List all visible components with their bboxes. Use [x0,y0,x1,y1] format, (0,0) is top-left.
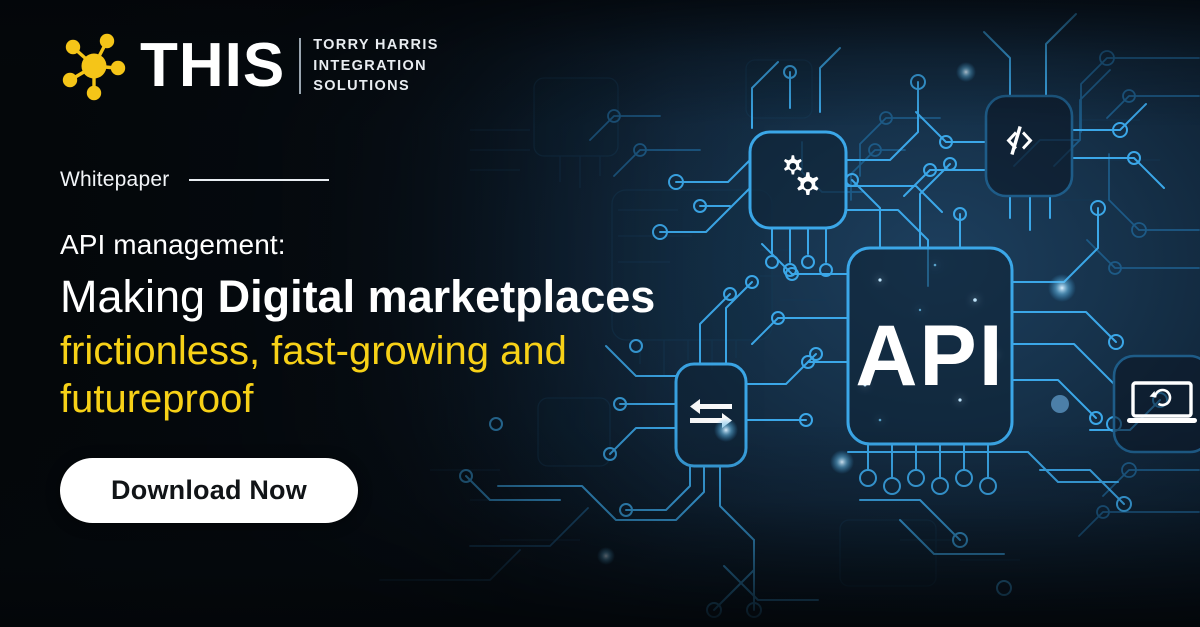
kicker-row: Whitepaper [60,168,329,192]
headline-line-4: futureproof [60,375,700,424]
logo-tagline-line-1: TORRY HARRIS [313,35,439,56]
headline-eyebrow: API management: [60,228,700,262]
headline-line-3: frictionless, fast-growing and [60,327,700,376]
whitepaper-promo-banner: API [0,0,1200,627]
logo-tagline-line-3: SOLUTIONS [313,76,439,97]
network-nodes-icon [58,30,130,102]
logo-divider [299,38,301,94]
banner-content: THIS TORRY HARRIS INTEGRATION SOLUTIONS … [0,0,700,627]
logo-tagline: TORRY HARRIS INTEGRATION SOLUTIONS [313,35,439,97]
headline-line-2-plain: Making [60,271,218,322]
headline-line-2-bold: Digital marketplaces [218,271,656,322]
headline-line-2: Making Digital marketplaces [60,270,700,323]
logo-wordmark: THIS [140,35,285,97]
kicker-rule [189,179,329,181]
headline-block: API management: Making Digital marketpla… [60,228,700,424]
brand-logo[interactable]: THIS TORRY HARRIS INTEGRATION SOLUTIONS [58,30,439,102]
logo-tagline-line-2: INTEGRATION [313,56,439,77]
download-now-button[interactable]: Download Now [60,458,358,523]
kicker-label: Whitepaper [60,168,169,192]
